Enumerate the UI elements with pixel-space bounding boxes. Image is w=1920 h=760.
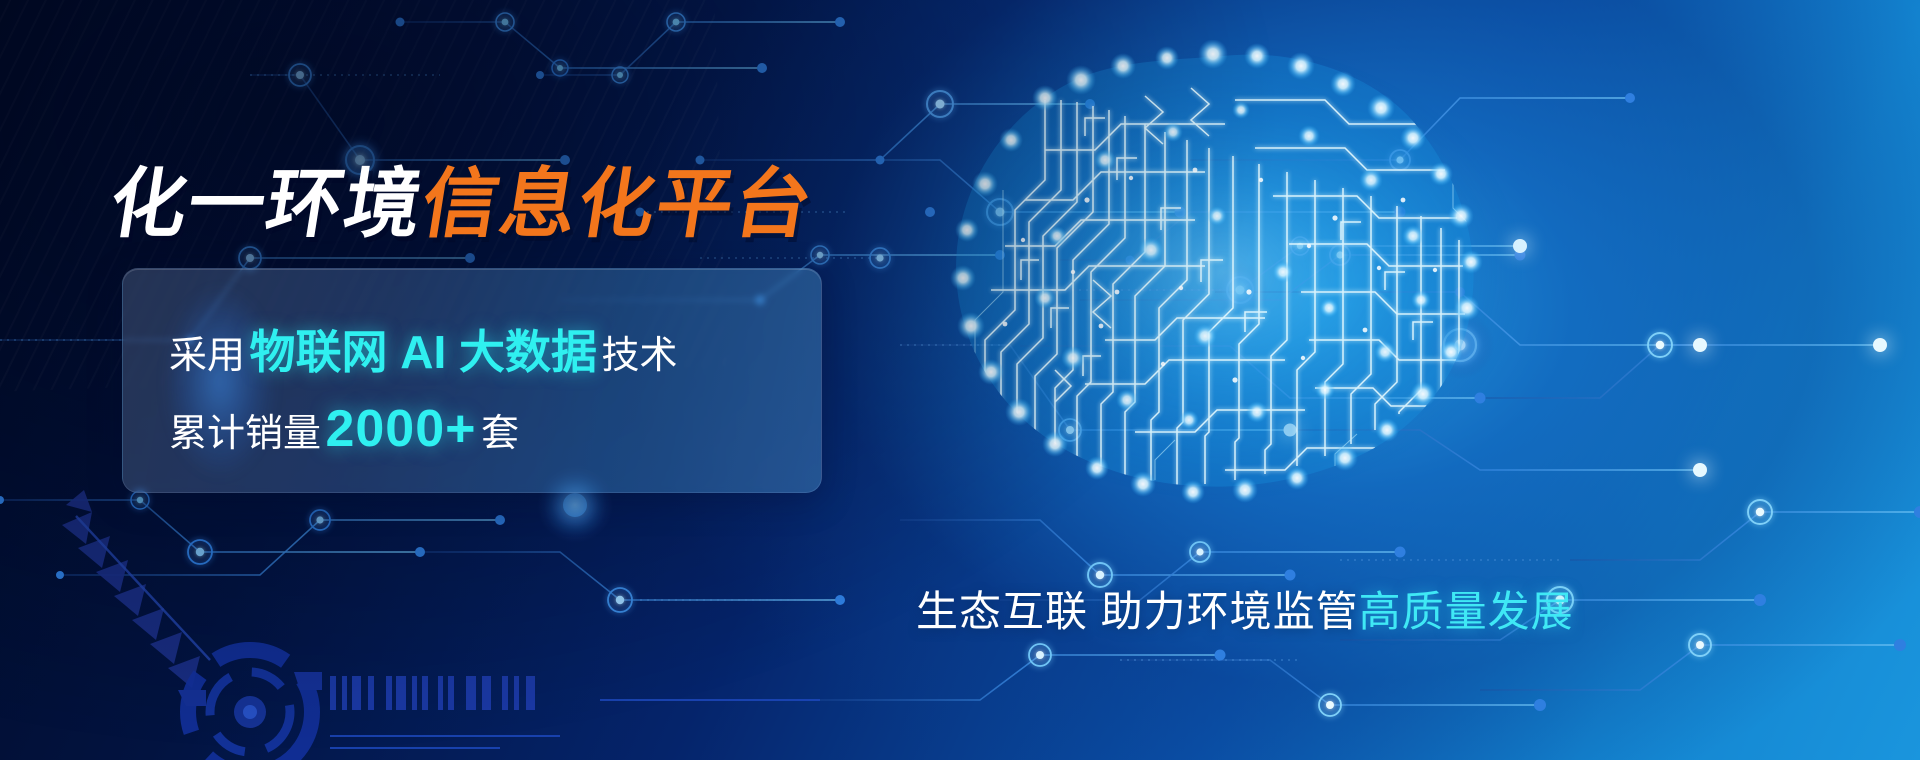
title-white-part: 化一环境 (103, 142, 432, 252)
circuit-brain-icon (905, 40, 1545, 510)
tagline: 生态互联 助力环境监管高质量发展 (916, 578, 1574, 639)
tech-highlight-label: 物联网 AI 大数据 (249, 326, 597, 378)
sales-suffix-label: 套 (481, 413, 519, 455)
panel-line-technology: 采用 物联网 AI 大数据 技术 (169, 316, 678, 382)
sales-prefix-label: 累计销量 (169, 413, 321, 455)
barcode-bars-icon (330, 676, 535, 710)
tagline-cyan-part: 高质量发展 (1359, 588, 1574, 635)
tech-suffix-label: 技术 (601, 335, 677, 377)
arrow-chevrons-icon (62, 490, 200, 688)
title-orange-part: 信息化平台 (415, 142, 822, 252)
hud-dial-icon (178, 650, 322, 760)
page-title: 化一环境信息化平台 (112, 142, 814, 252)
tech-prefix-label: 采用 (169, 335, 245, 377)
feature-glass-panel: 采用 物联网 AI 大数据 技术 累计销量 2000+ 套 (122, 268, 822, 493)
tagline-white-part: 生态互联 助力环境监管 (916, 588, 1359, 635)
hero-banner: 化一环境信息化平台 采用 物联网 AI 大数据 技术 累计销量 2000+ 套 … (0, 0, 1920, 760)
panel-line-sales: 累计销量 2000+ 套 (169, 399, 519, 459)
sales-count-value: 2000+ (325, 400, 476, 458)
